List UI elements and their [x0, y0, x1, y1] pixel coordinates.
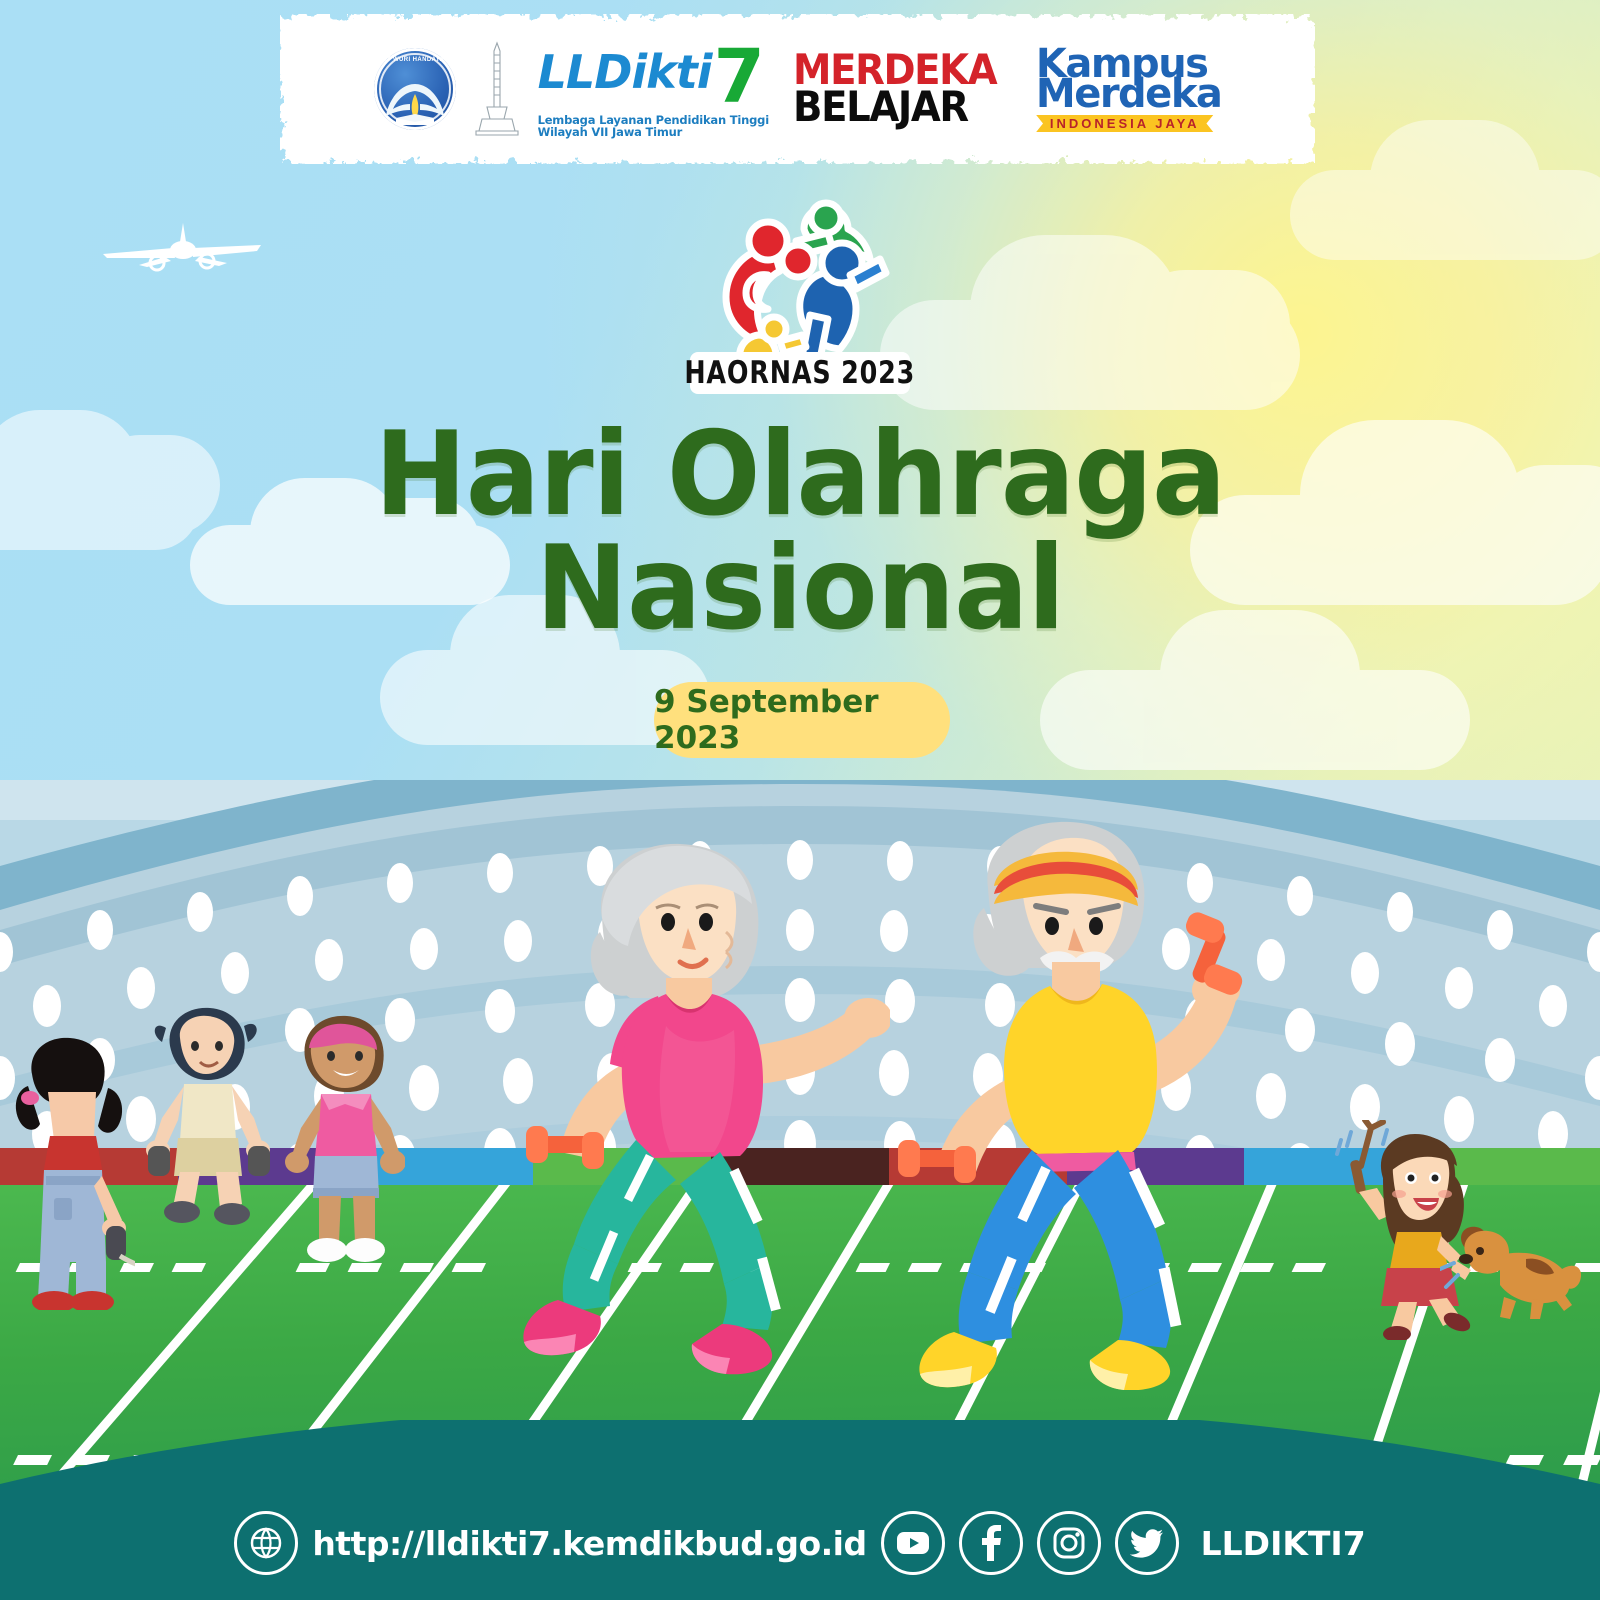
- stadium-seat: [187, 892, 213, 932]
- kampus-merdeka-logo: Kampus Merdeka INDONESIA JAYA: [1036, 46, 1222, 133]
- title-line-1: Hari Olahraga: [40, 418, 1560, 532]
- airplane-icon: [95, 215, 265, 275]
- stadium-seat: [1487, 910, 1513, 950]
- stadium-seat: [1445, 967, 1473, 1009]
- belajar-text: BELAJAR: [793, 89, 996, 126]
- event-date-text: 9 September 2023: [654, 684, 950, 756]
- title-line-2: Nasional: [40, 532, 1560, 646]
- stadium-seat: [1385, 1022, 1415, 1066]
- logo-row: TUT WURI HANDAYANI LLDikti7: [300, 26, 1295, 152]
- child-with-jump-rope-left: [10, 1030, 135, 1310]
- lldikti-number-text: 7: [714, 40, 764, 114]
- stadium-seat: [1587, 932, 1600, 972]
- dumbbell-icon: [1183, 909, 1245, 997]
- facebook-icon[interactable]: [959, 1511, 1023, 1575]
- stadium-seat: [1585, 1056, 1600, 1100]
- wings-flame-icon: [384, 78, 446, 128]
- stadium-seat: [33, 985, 61, 1027]
- haornas-year-text: HAORNAS 2023: [685, 355, 916, 391]
- stadium-seat: [1351, 952, 1379, 994]
- elderly-woman-runner: [490, 840, 890, 1380]
- dumbbell-icon: [526, 1126, 604, 1169]
- twitter-icon[interactable]: [1115, 1511, 1179, 1575]
- logo-motto-text: TUT WURI HANDAYANI: [374, 57, 456, 63]
- child-pink-shirt: [285, 1010, 405, 1275]
- kemdikbud-tut-wuri-handayani-logo: TUT WURI HANDAYANI: [374, 48, 456, 130]
- dumbbell-icon: [898, 1140, 976, 1183]
- instagram-icon[interactable]: [1037, 1511, 1101, 1575]
- haornas-year-badge: HAORNAS 2023: [690, 352, 910, 394]
- merdeka-text-2: Merdeka: [1036, 76, 1222, 112]
- stadium-seat: [0, 932, 13, 972]
- haornas-2023-poster: TUT WURI HANDAYANI LLDikti7: [0, 0, 1600, 1600]
- stadium-seat: [315, 939, 343, 981]
- youtube-icon[interactable]: [881, 1511, 945, 1575]
- globe-icon[interactable]: [234, 1511, 298, 1575]
- tugu-pahlawan-monument-icon: [474, 41, 520, 137]
- child-jumping-rope: [140, 1000, 275, 1230]
- lldikti-subtitle-line2: Wilayah VII Jawa Timur: [538, 127, 769, 139]
- social-handle-text: LLDIKTI7: [1201, 1524, 1366, 1563]
- stadium-seat: [410, 928, 438, 970]
- merdeka-belajar-logo: MERDEKA BELAJAR: [793, 52, 1014, 126]
- lldikti7-logo: LLDikti7 Lembaga Layanan Pendidikan Ting…: [538, 40, 769, 139]
- stadium-seat: [1539, 985, 1567, 1027]
- elderly-man-runner: [880, 820, 1300, 1390]
- running-dog: [1440, 1215, 1585, 1325]
- lldikti-brand-text: LLDikti: [538, 49, 712, 95]
- stadium-seat: [221, 952, 249, 994]
- website-url-text[interactable]: http://lldikti7.kemdikbud.go.id: [312, 1524, 866, 1563]
- indonesia-jaya-ribbon: INDONESIA JAYA: [1036, 115, 1214, 133]
- stadium-seat: [387, 863, 413, 903]
- page-title: Hari Olahraga Nasional: [0, 418, 1600, 645]
- event-date-badge: 9 September 2023: [654, 682, 950, 758]
- footer-content-row: http://lldikti7.kemdikbud.go.id: [0, 1508, 1600, 1578]
- stadium-seat: [87, 910, 113, 950]
- stadium-seat: [1387, 892, 1413, 932]
- stadium-seat: [1485, 1038, 1515, 1082]
- stadium-seat: [409, 1065, 439, 1111]
- stadium-seat: [287, 876, 313, 916]
- footer: http://lldikti7.kemdikbud.go.id: [0, 1420, 1600, 1600]
